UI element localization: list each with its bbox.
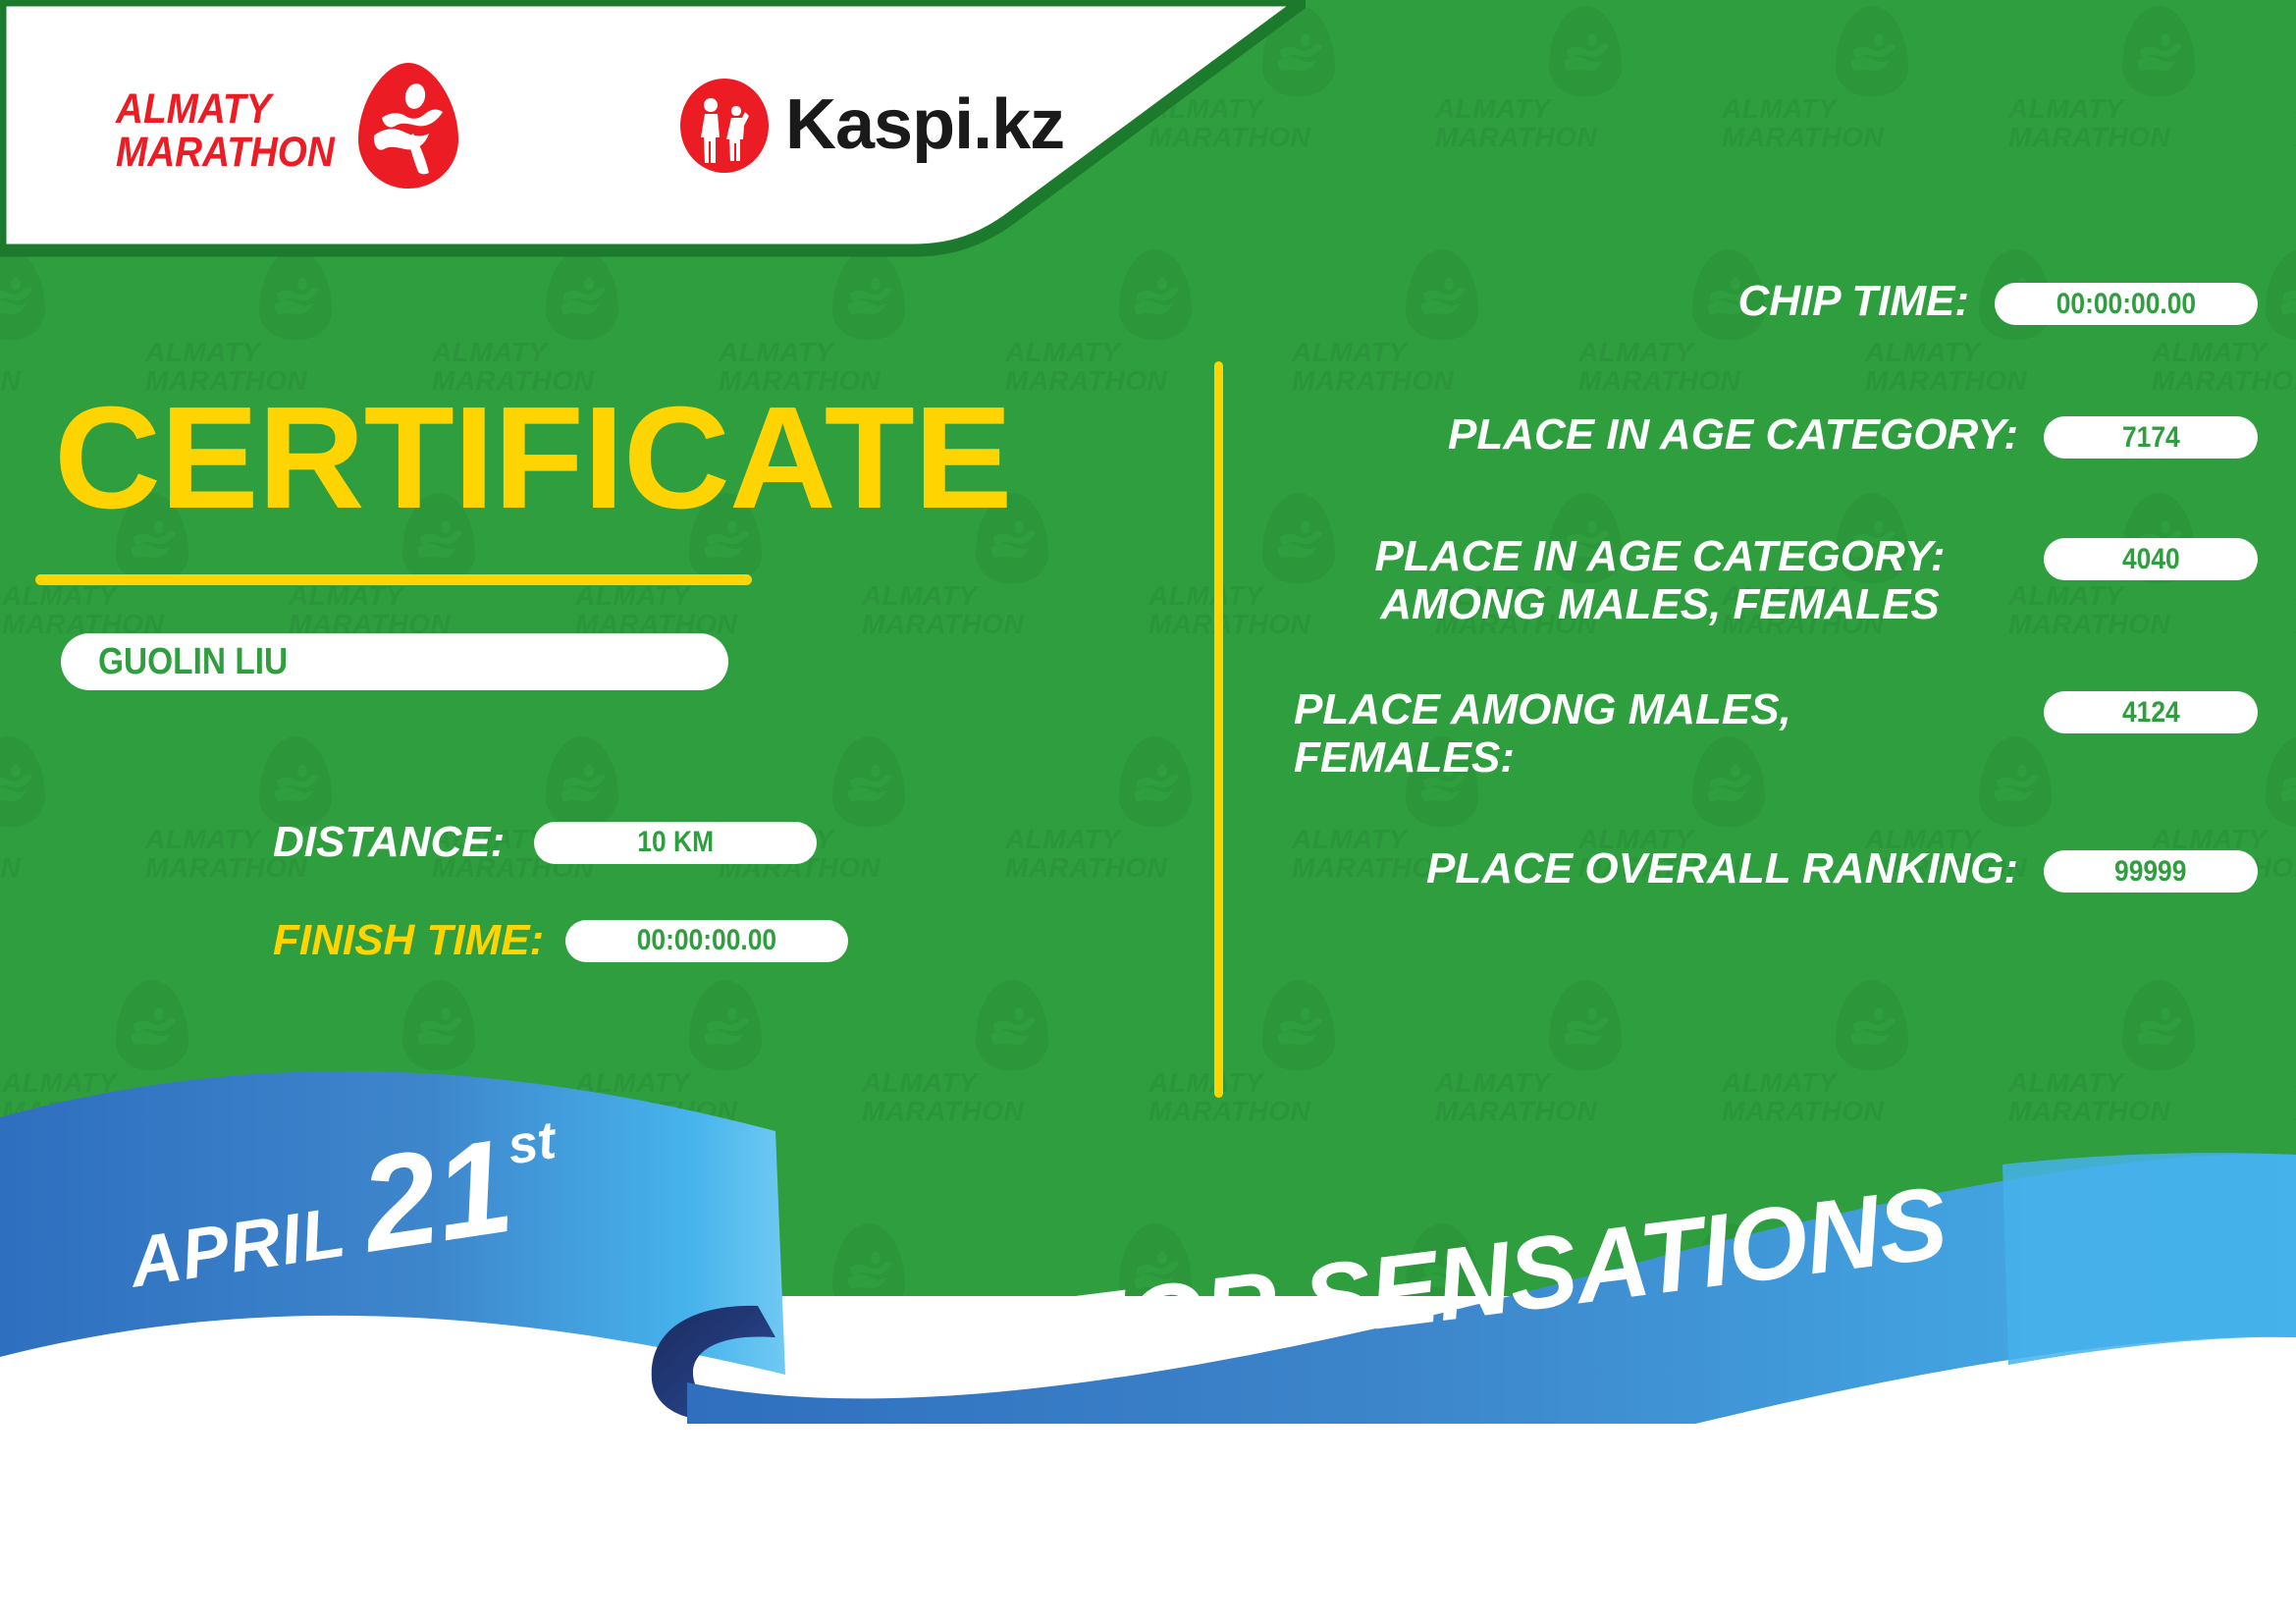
watermark-runner-icon (273, 277, 320, 316)
watermark-runner-icon (1563, 1007, 1610, 1047)
watermark-runner-icon (846, 277, 893, 316)
watermark-runner-icon (273, 764, 320, 803)
distance-row: DISTANCE: 10 KM (273, 818, 817, 867)
watermark-text: ALMATYMARATHON (1292, 338, 1454, 396)
watermark-text: ALMATYMARATHON (1435, 94, 1597, 152)
watermark-runner-icon (416, 1007, 463, 1047)
almaty-word-line2: MARATHON (116, 132, 335, 175)
almaty-word-line1: ALMATY (116, 88, 335, 132)
watermark-runner-icon (989, 1007, 1037, 1047)
watermark-runner-icon (1133, 277, 1180, 316)
distance-value-field[interactable]: 10 KM (534, 822, 817, 864)
stat-row-overall-ranking: PLACE OVERALL RANKING: 99999 (1266, 844, 2258, 893)
watermark-text: ALMATYMARATHON (0, 825, 21, 883)
watermark-text: ALMATYMARATHON (2152, 338, 2296, 396)
watermark-text: ALMATYMARATHON (575, 581, 737, 639)
finish-time-label: FINISH TIME: (273, 916, 544, 965)
distance-label: DISTANCE: (273, 818, 505, 867)
overall-ranking-value-field[interactable]: 99999 (2044, 850, 2258, 893)
chip-time-label: CHIP TIME: (1266, 277, 1995, 325)
watermark-runner-icon (1849, 33, 1896, 73)
watermark-tile: ALMATYMARATHON (0, 731, 92, 927)
almaty-marathon-wordmark: ALMATY MARATHON (116, 88, 335, 175)
distance-value: 10 KM (637, 826, 714, 859)
place-age-category-gender-value: 4040 (2122, 543, 2180, 576)
place-age-category-label: PLACE IN AGE CATEGORY: (1266, 410, 2044, 459)
watermark-runner-icon (2279, 277, 2296, 316)
watermark-text: ALMATYMARATHON (1005, 338, 1167, 396)
header-logos: ALMATY MARATHON Kaspi.kz (0, 0, 1178, 275)
event-day-suffix: st (505, 1113, 559, 1173)
sponsors-footer (0, 1394, 2296, 1624)
place-age-category-value: 7174 (2122, 421, 2180, 455)
runner-teardrop-icon (356, 61, 460, 190)
finish-time-value-field[interactable]: 00:00:00.00 (565, 920, 848, 962)
kaspi-logo: Kaspi.kz (677, 71, 1090, 179)
watermark-text: ALMATYMARATHON (1578, 338, 1740, 396)
place-among-gender-label: PLACE AMONG MALES, FEMALES: (1266, 685, 2044, 783)
place-among-gender-value: 4124 (2122, 696, 2180, 730)
overall-ranking-label: PLACE OVERALL RANKING: (1266, 844, 2044, 893)
chip-time-value-field[interactable]: 00:00:00.00 (1995, 283, 2258, 325)
kaspi-figures-icon (677, 77, 772, 175)
watermark-text: ALMATYMARATHON (1722, 94, 1884, 152)
stat-row-place-age-category: PLACE IN AGE CATEGORY: 7174 (1266, 410, 2258, 459)
watermark-runner-icon (0, 764, 33, 803)
overall-ranking-value: 99999 (2114, 855, 2186, 889)
watermark-runner-icon (2136, 33, 2183, 73)
watermark-runner-icon (0, 277, 33, 316)
participant-name-value: GUOLIN LIU (98, 641, 288, 683)
watermark-runner-icon (1849, 1007, 1896, 1047)
column-divider (1214, 361, 1223, 1098)
watermark-runner-icon (1276, 1007, 1323, 1047)
watermark-runner-icon (560, 277, 607, 316)
finish-time-value: 00:00:00.00 (637, 924, 776, 957)
finish-time-row: FINISH TIME: 00:00:00.00 (273, 916, 848, 965)
watermark-text: ALMATYMARATHON (2008, 94, 2170, 152)
title-underline-rule (35, 574, 752, 585)
watermark-runner-icon (2136, 1007, 2183, 1047)
kaspi-wordmark: Kaspi.kz (785, 84, 1064, 165)
event-day-number: 21 (354, 1124, 519, 1268)
watermark-runner-icon (2279, 764, 2296, 803)
watermark-text: ALMATYMARATHON (0, 338, 21, 396)
certificate-title: CERTIFICATE (54, 386, 1012, 531)
stat-row-chip-time: CHIP TIME: 00:00:00.00 (1266, 277, 2258, 325)
watermark-text: ALMATYMARATHON (1005, 825, 1167, 883)
watermark-runner-icon (130, 1007, 177, 1047)
watermark-text: ALMATYMARATHON (289, 581, 451, 639)
stat-row-place-age-category-gender: PLACE IN AGE CATEGORY: AMONG MALES, FEMA… (1266, 532, 2258, 629)
watermark-text: ALMATYMARATHON (2, 581, 164, 639)
watermark-runner-icon (846, 764, 893, 803)
watermark-tile: ALMATYMARATHON (1433, 0, 1669, 196)
certificate-page: ALMATYMARATHONALMATYMARATHONALMATYMARATH… (0, 0, 2296, 1624)
place-age-category-gender-value-field[interactable]: 4040 (2044, 538, 2258, 580)
watermark-tile: ALMATYMARATHON (1720, 0, 1955, 196)
place-age-category-gender-label: PLACE IN AGE CATEGORY: AMONG MALES, FEMA… (1266, 532, 2044, 629)
place-among-gender-value-field[interactable]: 4124 (2044, 691, 2258, 733)
watermark-tile: ALMATYMARATHON (2006, 0, 2242, 196)
almaty-marathon-logo: ALMATY MARATHON (116, 61, 430, 189)
participant-name-field[interactable]: GUOLIN LIU (61, 633, 728, 690)
watermark-runner-icon (560, 764, 607, 803)
watermark-text: ALMATYMARATHON (862, 581, 1024, 639)
place-age-category-value-field[interactable]: 7174 (2044, 416, 2258, 459)
stat-row-place-among-gender: PLACE AMONG MALES, FEMALES: 4124 (1266, 685, 2258, 783)
watermark-tile: ALMATYMARATHON (1003, 731, 1239, 927)
watermark-runner-icon (1563, 33, 1610, 73)
watermark-text: ALMATYMARATHON (1865, 338, 2027, 396)
watermark-runner-icon (703, 1007, 750, 1047)
chip-time-value: 00:00:00.00 (2056, 288, 2196, 321)
watermark-runner-icon (1133, 764, 1180, 803)
